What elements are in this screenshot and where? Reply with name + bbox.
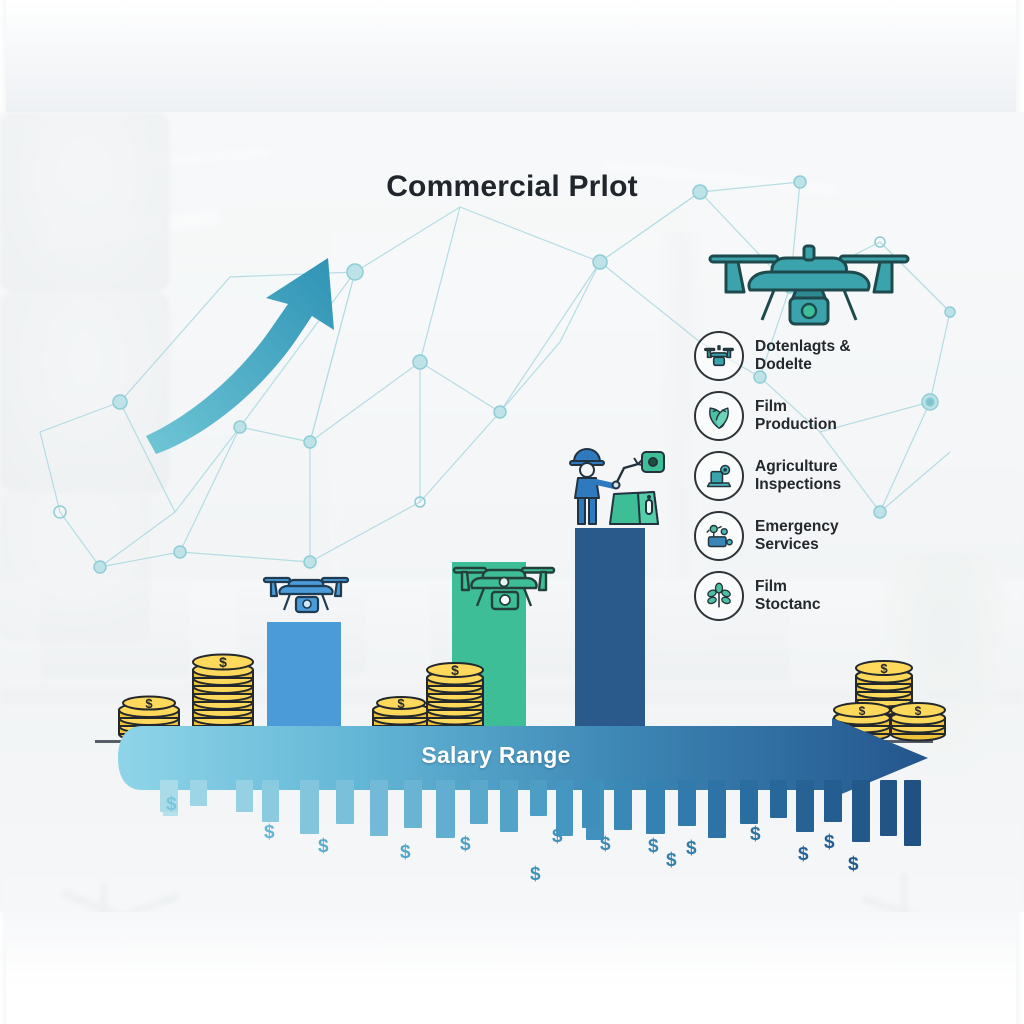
salary-distribution-strip: $$$$$$$$$$$$$$$ xyxy=(0,780,1024,900)
banner-label: Salary Range xyxy=(116,742,876,769)
dollar-sign-icon: $ xyxy=(166,794,177,816)
salary-tick-bar xyxy=(770,780,787,818)
salary-tick-bar xyxy=(336,780,354,824)
bar-senior xyxy=(575,528,645,740)
dollar-sign-icon: $ xyxy=(264,822,275,844)
legend-item-0[interactable]: Dotenlagts &Dodelte xyxy=(694,326,944,386)
legend-item-label: FilmStoctanc xyxy=(755,578,820,615)
svg-text:$: $ xyxy=(915,704,922,718)
camera-inspection-icon xyxy=(694,451,744,501)
dollar-sign-icon: $ xyxy=(798,844,809,866)
legend-item-label: EmergencyServices xyxy=(755,518,839,555)
dollar-sign-icon: $ xyxy=(750,824,761,846)
salary-tick-bar xyxy=(796,780,814,832)
dollar-sign-icon: $ xyxy=(460,834,471,856)
dollar-sign-icon: $ xyxy=(666,850,677,872)
emergency-monitor-icon xyxy=(694,511,744,561)
salary-tick-bar xyxy=(236,780,253,812)
plant-icon xyxy=(694,571,744,621)
salary-tick-bar xyxy=(740,780,758,824)
surveyor-worker-icon xyxy=(558,440,672,534)
dollar-sign-icon: $ xyxy=(824,832,835,854)
legend-item-3[interactable]: EmergencyServices xyxy=(694,506,944,566)
salary-tick-bar xyxy=(436,780,455,838)
legend: Dotenlagts &Dodelte FilmProduction xyxy=(694,326,944,626)
legend-item-4[interactable]: FilmStoctanc xyxy=(694,566,944,626)
dollar-sign-icon: $ xyxy=(318,836,329,858)
drone-icon-hero xyxy=(700,236,918,328)
salary-tick-bar xyxy=(582,780,600,828)
drone-icon xyxy=(694,331,744,381)
salary-tick-bar xyxy=(646,780,665,834)
salary-tick-bar xyxy=(852,780,870,842)
svg-text:$: $ xyxy=(451,662,459,678)
svg-text:$: $ xyxy=(397,696,405,711)
legend-item-label: Dotenlagts &Dodelte xyxy=(755,338,851,375)
dollar-sign-icon: $ xyxy=(848,854,859,876)
dollar-sign-icon: $ xyxy=(400,842,411,864)
salary-tick-bar xyxy=(500,780,518,832)
salary-tick-bar xyxy=(262,780,279,822)
legend-item-label: AgricultureInspections xyxy=(755,458,841,495)
salary-tick-bar xyxy=(404,780,422,828)
frame-bottom-band xyxy=(0,912,1024,1024)
svg-text:$: $ xyxy=(880,661,888,676)
dollar-sign-icon: $ xyxy=(600,834,611,856)
infographic-canvas: Commercial Prlot xyxy=(0,0,1024,1024)
salary-tick-bar xyxy=(470,780,488,824)
leaf-icon xyxy=(694,391,744,441)
salary-tick-bar xyxy=(708,780,726,838)
frame-top-band xyxy=(0,0,1024,112)
legend-item-1[interactable]: FilmProduction xyxy=(694,386,944,446)
salary-tick-bar xyxy=(556,780,573,832)
dollar-sign-icon: $ xyxy=(686,838,697,860)
dollar-sign-icon: $ xyxy=(648,836,659,858)
salary-tick-bar xyxy=(880,780,897,836)
svg-text:$: $ xyxy=(219,654,227,670)
salary-tick-bar xyxy=(530,780,547,816)
salary-tick-bar xyxy=(370,780,388,836)
drone-icon-green xyxy=(448,552,560,624)
svg-text:$: $ xyxy=(859,704,866,718)
salary-tick-bar xyxy=(190,780,207,806)
legend-item-label: FilmProduction xyxy=(755,398,837,435)
drone-icon-blue xyxy=(258,564,354,626)
salary-tick-bar xyxy=(300,780,319,834)
salary-tick-bar xyxy=(904,780,921,846)
legend-item-2[interactable]: AgricultureInspections xyxy=(694,446,944,506)
svg-text:$: $ xyxy=(145,696,153,711)
salary-tick-bar xyxy=(678,780,696,826)
dollar-sign-icon: $ xyxy=(552,826,563,848)
salary-tick-bar xyxy=(824,780,842,822)
salary-tick-bar xyxy=(614,780,632,830)
dollar-sign-icon: $ xyxy=(530,864,541,886)
